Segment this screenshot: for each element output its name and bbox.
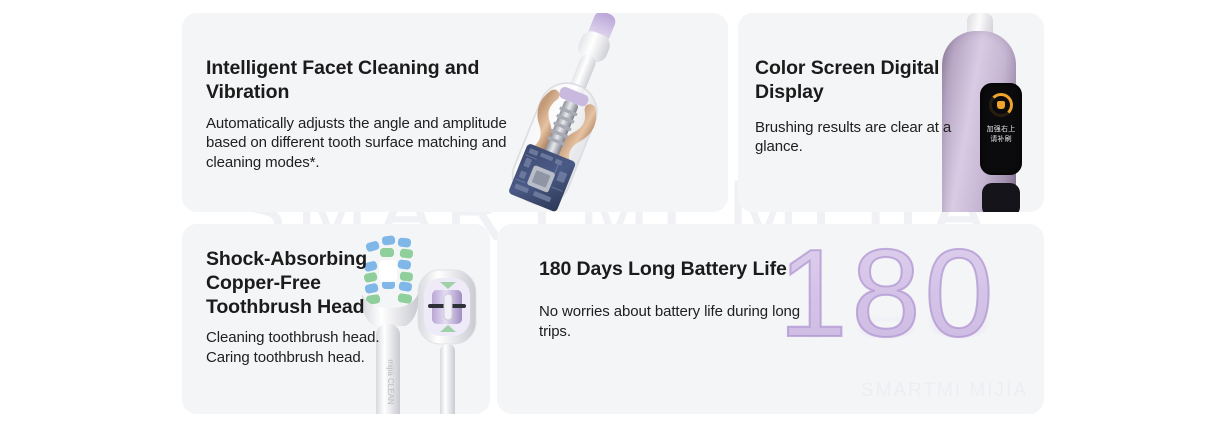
power-button — [982, 183, 1020, 212]
card-title: Intelligent Facet Cleaning and Vibration — [206, 57, 536, 105]
feature-card-shock-absorbing-head: mijia CLEAN Shock-Absorbing Copper-Free … — [182, 224, 490, 414]
feature-card-intelligent-facet-cleaning: Intelligent Facet Cleaning and Vibration… — [182, 13, 728, 212]
card-title: Color Screen Digital Display — [755, 57, 955, 105]
feature-grid: SMARTMI MIJIA — [0, 0, 1226, 433]
card-description: Cleaning toothbrush head. Caring toothbr… — [206, 328, 421, 368]
card-title: Shock-Absorbing Copper-Free Toothbrush H… — [206, 248, 421, 319]
card-description: Automatically adjusts the angle and ampl… — [206, 114, 536, 173]
card-text-block: 180 Days Long Battery Life No worries ab… — [539, 258, 819, 341]
card-text-block: Intelligent Facet Cleaning and Vibration… — [206, 57, 536, 173]
card-title: 180 Days Long Battery Life — [539, 258, 819, 282]
card-text-block: Color Screen Digital Display Brushing re… — [755, 57, 955, 157]
screen-text-line2: 请补刷 — [980, 135, 1022, 145]
color-screen: 加强右上 请补刷 — [980, 83, 1022, 175]
feature-card-color-screen-digital-display: 加强右上 请补刷 Color Screen Digital Display Br… — [738, 13, 1044, 212]
card-description: No worries about battery life during lon… — [539, 302, 819, 342]
tooth-quadrant-icon — [989, 93, 1013, 117]
screen-text-line1: 加强右上 — [980, 125, 1022, 135]
card-text-block: Shock-Absorbing Copper-Free Toothbrush H… — [206, 248, 421, 368]
card-corner-watermark: SMARTMI MIJIA — [861, 380, 1028, 402]
screen-text: 加强右上 请补刷 — [980, 125, 1022, 145]
card-description: Brushing results are clear at a glance. — [755, 118, 955, 158]
feature-card-battery-life: 180 180 180 SMARTMI MIJIA 180 Days Long … — [497, 224, 1044, 414]
